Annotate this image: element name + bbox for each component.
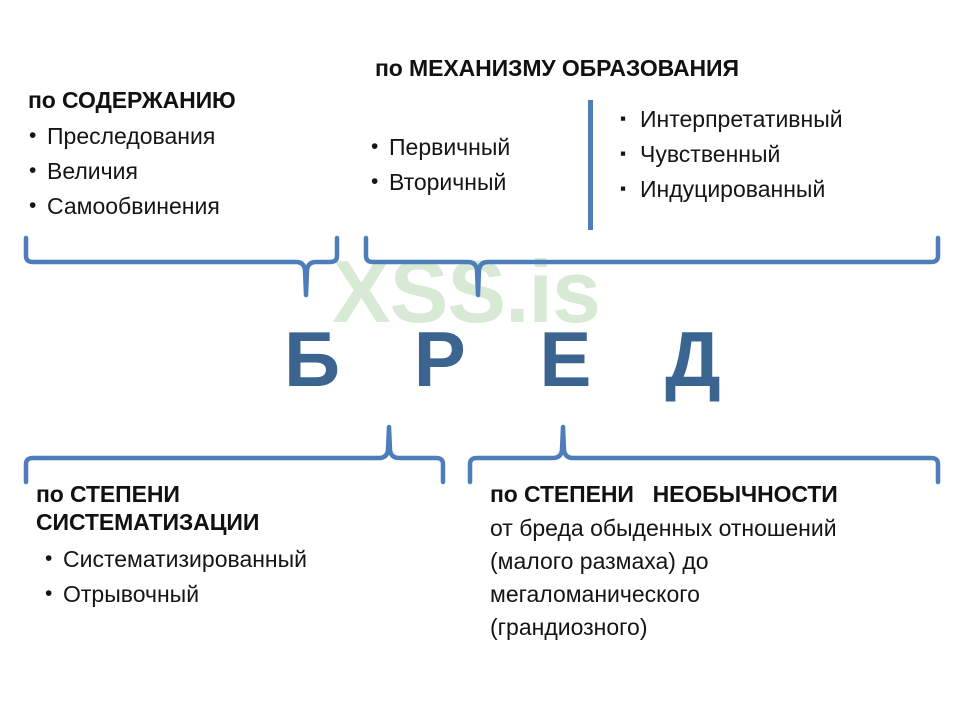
list-item: Первичный [370, 130, 580, 165]
group-mechanism-types: Интерпретативный Чувственный Индуцирован… [618, 102, 938, 207]
list-item: Вторичный [370, 165, 580, 200]
bracket-bottom-left [26, 427, 443, 482]
bracket-bottom-right [470, 427, 938, 482]
group-mechanism-primary: Первичный Вторичный [370, 130, 580, 200]
slide-canvas: XSS.is по СОДЕРЖАНИЮ Преследования Велич… [0, 0, 960, 720]
group-unusualness: по СТЕПЕНИ НЕОБЫЧНОСТИ от бреда обыденны… [490, 480, 950, 644]
group-content: по СОДЕРЖАНИЮ Преследования Величия Само… [28, 86, 348, 224]
group-mechanism-types-list: Интерпретативный Чувственный Индуцирован… [618, 102, 938, 207]
group-unusualness-heading: по СТЕПЕНИ НЕОБЫЧНОСТИ [490, 480, 950, 508]
list-item: Индуцированный [618, 172, 938, 207]
bracket-top-left [26, 238, 337, 295]
group-content-list: Преследования Величия Самообвинения [28, 119, 348, 224]
group-mechanism-heading: по МЕХАНИЗМУ ОБРАЗОВАНИЯ [375, 54, 739, 82]
list-item: Самообвинения [28, 189, 348, 224]
list-item: Преследования [28, 119, 348, 154]
list-item: Чувственный [618, 137, 938, 172]
group-systematization-heading-line1: по СТЕПЕНИ [36, 480, 436, 508]
list-item: Величия [28, 154, 348, 189]
list-item: Систематизированный [44, 542, 436, 577]
group-mechanism-primary-list: Первичный Вторичный [370, 130, 580, 200]
list-item: Интерпретативный [618, 102, 938, 137]
group-unusualness-description: от бреда обыденных отношений (малого раз… [490, 512, 950, 644]
group-systematization: по СТЕПЕНИ СИСТЕМАТИЗАЦИИ Систематизиров… [36, 480, 436, 612]
mechanism-vertical-divider [588, 100, 593, 230]
center-title: Б Р Е Д [284, 320, 747, 398]
group-systematization-list: Систематизированный Отрывочный [36, 542, 436, 612]
group-systematization-heading-line2: СИСТЕМАТИЗАЦИИ [36, 508, 436, 536]
group-content-heading: по СОДЕРЖАНИЮ [28, 86, 348, 114]
list-item: Отрывочный [44, 577, 436, 612]
